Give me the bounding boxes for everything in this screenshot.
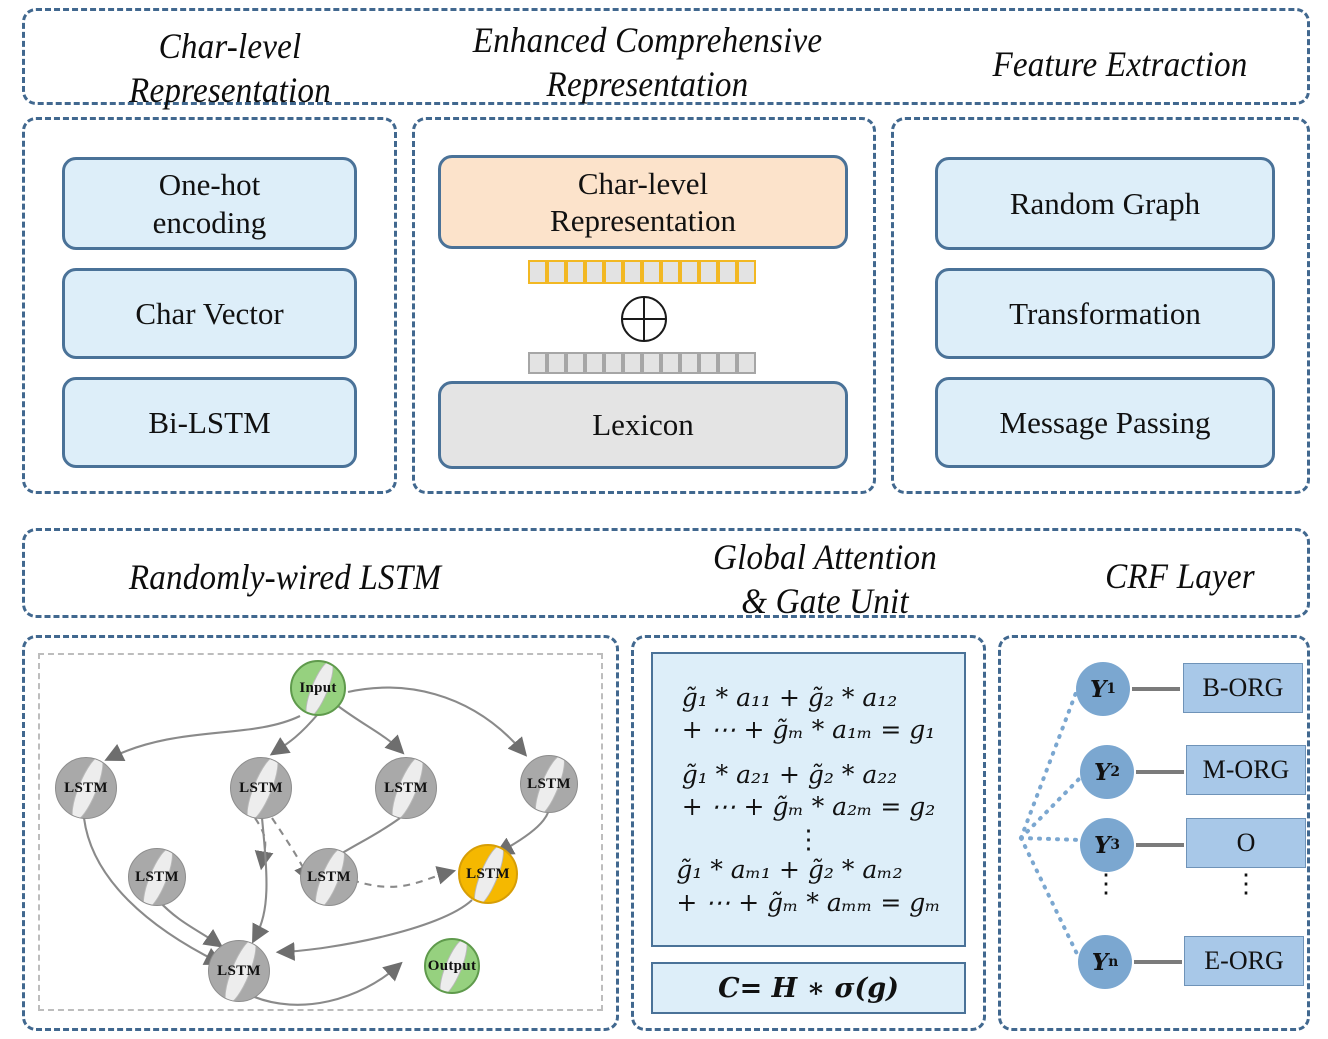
crf-fan-lines	[0, 0, 1328, 1039]
architecture-diagram: Char-levelRepresentation Enhanced Compre…	[0, 0, 1328, 1039]
crf-connector-3	[1136, 843, 1184, 847]
crf-node-ellipsis: ⋮	[1086, 875, 1126, 894]
crf-node-yn[interactable]: Yn	[1078, 935, 1132, 989]
crf-tag-o[interactable]: O	[1186, 818, 1306, 868]
crf-tag-b-org[interactable]: B-ORG	[1183, 663, 1303, 713]
crf-tag-m-org[interactable]: M-ORG	[1186, 745, 1306, 795]
crf-tag-e-org[interactable]: E-ORG	[1184, 936, 1304, 986]
crf-connector-2	[1136, 770, 1184, 774]
crf-node-y1[interactable]: Y1	[1076, 662, 1130, 716]
crf-connector-n	[1134, 960, 1182, 964]
crf-node-y2[interactable]: Y2	[1080, 745, 1134, 799]
crf-node-y3[interactable]: Y3	[1080, 818, 1134, 872]
crf-tag-ellipsis: ⋮	[1226, 875, 1266, 894]
crf-connector-1	[1132, 687, 1180, 691]
